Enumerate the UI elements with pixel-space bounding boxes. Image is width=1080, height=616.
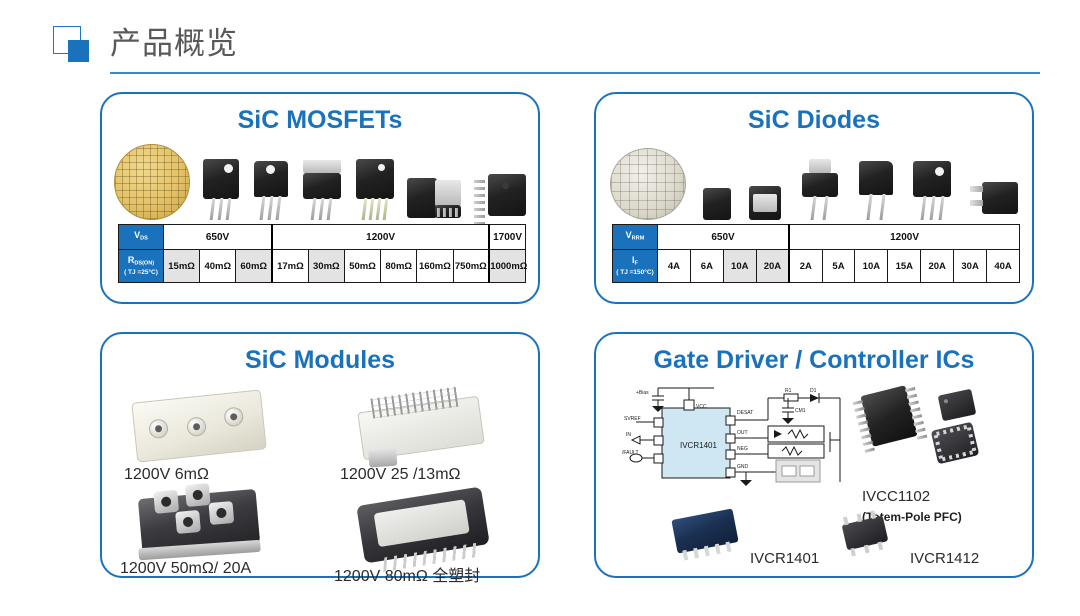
voltage-group-650v: 650V [658, 225, 790, 250]
ic-label-ivcc1102: IVCC1102 [862, 488, 930, 505]
schematic-label-svref: SVREF [624, 416, 641, 422]
schematic-label-fault: /FAULT [622, 450, 639, 456]
table-row: VDS 650V 1200V 1700V [119, 225, 526, 250]
table-cell: 20A [756, 250, 789, 283]
table-cell: 40mΩ [200, 250, 236, 283]
to247-3pin-package-image [911, 161, 953, 220]
screw-terminal-module-image [138, 489, 260, 553]
to252-package-image [970, 180, 1018, 220]
table-row: IF ( TJ =150°C) 4A 6A 10A 20A 2A 5A 10A … [613, 250, 1020, 283]
mosfet-spec-table: VDS 650V 1200V 1700V RDS(ON) ( TJ =25°C)… [118, 224, 526, 283]
slide-header: 产品概览 [0, 0, 1080, 80]
diode-spec-table: VRRM 650V 1200V IF ( TJ =150°C) 4A 6A 10… [612, 224, 1020, 283]
table-row: VRRM 650V 1200V [613, 225, 1020, 250]
rdson-condition: ( TJ =25°C) [119, 269, 163, 277]
table-cell: 1000mΩ [489, 250, 525, 283]
vrrm-sub: RRM [632, 236, 645, 242]
table-cell: 40A [987, 250, 1020, 283]
to247-4pin-package-image [354, 159, 396, 220]
voltage-group-1200v: 1200V [272, 225, 489, 250]
schematic-chip-label: IVCR1401 [680, 441, 717, 450]
to263-7-package-image [474, 174, 526, 220]
mosfet-product-images [108, 138, 532, 220]
schematic-label-vcc: VCC [696, 404, 707, 410]
module-grid: 1200V 6mΩ 1200V 25 /13mΩ 1200V 50mΩ/ 20A [112, 382, 532, 572]
panel-sic-diodes: SiC Diodes [594, 92, 1034, 304]
schematic-label-neg: NEG [737, 446, 748, 452]
diode-product-images [602, 138, 1026, 220]
module-item-1 [360, 404, 482, 452]
panel-sic-mosfets: SiC MOSFETs [100, 92, 540, 304]
dfn-package-image [703, 188, 733, 220]
table-cell: 30mΩ [308, 250, 344, 283]
module-caption-3: 1200V 80mΩ 全塑封 [334, 562, 480, 586]
panel-title-gate-driver-ics: Gate Driver / Controller ICs [596, 346, 1032, 375]
schematic-label-out: OUT [737, 430, 748, 436]
gate-driver-content: +Bias VCC SVREF IN /FAULT DESAT OUT NEG … [604, 378, 1028, 574]
table-cell: 750mΩ [453, 250, 489, 283]
pin-fin-module-image [357, 396, 484, 461]
qfn-small-package-image [940, 392, 974, 418]
table-cell: 80mΩ [381, 250, 417, 283]
if-sub: F [635, 261, 638, 267]
table-cell: 10A [723, 250, 756, 283]
schematic-label-gnd: GND [737, 464, 749, 470]
table-cell: 20A [921, 250, 954, 283]
row-header-rdson: RDS(ON) ( TJ =25°C) [119, 250, 164, 283]
module-item-2 [140, 494, 258, 548]
table-row: RDS(ON) ( TJ =25°C) 15mΩ 40mΩ 60mΩ 17mΩ … [119, 250, 526, 283]
table-cell: 6A [690, 250, 723, 283]
square-filled-icon [68, 40, 89, 62]
header-divider [110, 72, 1040, 74]
to220f-package-image [252, 161, 290, 220]
table-cell: 15mΩ [164, 250, 200, 283]
sot-23-6-package-image [844, 520, 886, 546]
rdson-sub: DS(ON) [134, 261, 154, 267]
panel-gate-driver-ics: Gate Driver / Controller ICs [594, 332, 1034, 578]
module-caption-1: 1200V 25 /13mΩ [340, 466, 460, 484]
table-cell: 4A [658, 250, 691, 283]
to220ac-package-image [800, 159, 840, 220]
vds-sub: DS [140, 236, 148, 242]
row-header-vrrm: VRRM [613, 225, 658, 250]
header-decorative-mark [53, 26, 89, 62]
schematic-label-cm1: CM1 [795, 408, 806, 414]
gate-driver-application-schematic: +Bias VCC SVREF IN /FAULT DESAT OUT NEG … [618, 382, 848, 500]
table-cell: 30A [954, 250, 987, 283]
panel-title-sic-diodes: SiC Diodes [596, 106, 1032, 135]
table-cell: 60mΩ [236, 250, 272, 283]
qfn-package-image [934, 426, 976, 460]
to247-2pin-package-image [857, 161, 895, 220]
page-title: 产品概览 [110, 18, 238, 63]
d2pak-7-package-image [407, 178, 463, 220]
table-cell: 15A [888, 250, 921, 283]
table-cell: 17mΩ [272, 250, 308, 283]
powerflat-package-image [749, 186, 783, 220]
module-caption-0: 1200V 6mΩ [124, 466, 209, 484]
table-cell: 50mΩ [344, 250, 380, 283]
schematic-label-bias: +Bias [636, 390, 649, 396]
module-caption-2: 1200V 50mΩ/ 20A [120, 560, 251, 578]
table-cell: 160mΩ [417, 250, 453, 283]
molded-power-module-image [356, 487, 490, 564]
schematic-label-desat: DESAT [737, 410, 753, 416]
panel-sic-modules: SiC Modules 1200V 6mΩ 1200V 25 /13mΩ [100, 332, 540, 578]
panel-title-sic-modules: SiC Modules [102, 346, 538, 375]
ic-label-ivcr1401: IVCR1401 [750, 550, 819, 567]
soic-16-package-image [866, 390, 912, 442]
schematic-label-in: IN [626, 432, 631, 438]
module-item-0 [134, 396, 264, 456]
if-condition: ( TJ =150°C) [613, 269, 657, 277]
to247-package-image [201, 159, 241, 220]
sop-8-package-image [674, 514, 736, 548]
panel-title-sic-mosfets: SiC MOSFETs [102, 106, 538, 135]
row-header-if: IF ( TJ =150°C) [613, 250, 658, 283]
voltage-group-650v: 650V [164, 225, 273, 250]
voltage-group-1200v: 1200V [789, 225, 1019, 250]
ic-label-ivcr1412: IVCR1412 [910, 550, 979, 567]
to220-package-image [301, 160, 343, 220]
voltage-group-1700v: 1700V [489, 225, 525, 250]
half-bridge-white-module-image [131, 389, 267, 462]
schematic-label-d1: D1 [810, 388, 817, 394]
table-cell: 5A [822, 250, 855, 283]
sic-wafer-gold-image [114, 144, 190, 220]
table-cell: 10A [855, 250, 888, 283]
sic-wafer-gray-image [610, 148, 686, 220]
row-header-vds: VDS [119, 225, 164, 250]
module-item-3 [360, 496, 486, 554]
table-cell: 2A [789, 250, 822, 283]
schematic-label-r1: R1 [785, 388, 792, 394]
